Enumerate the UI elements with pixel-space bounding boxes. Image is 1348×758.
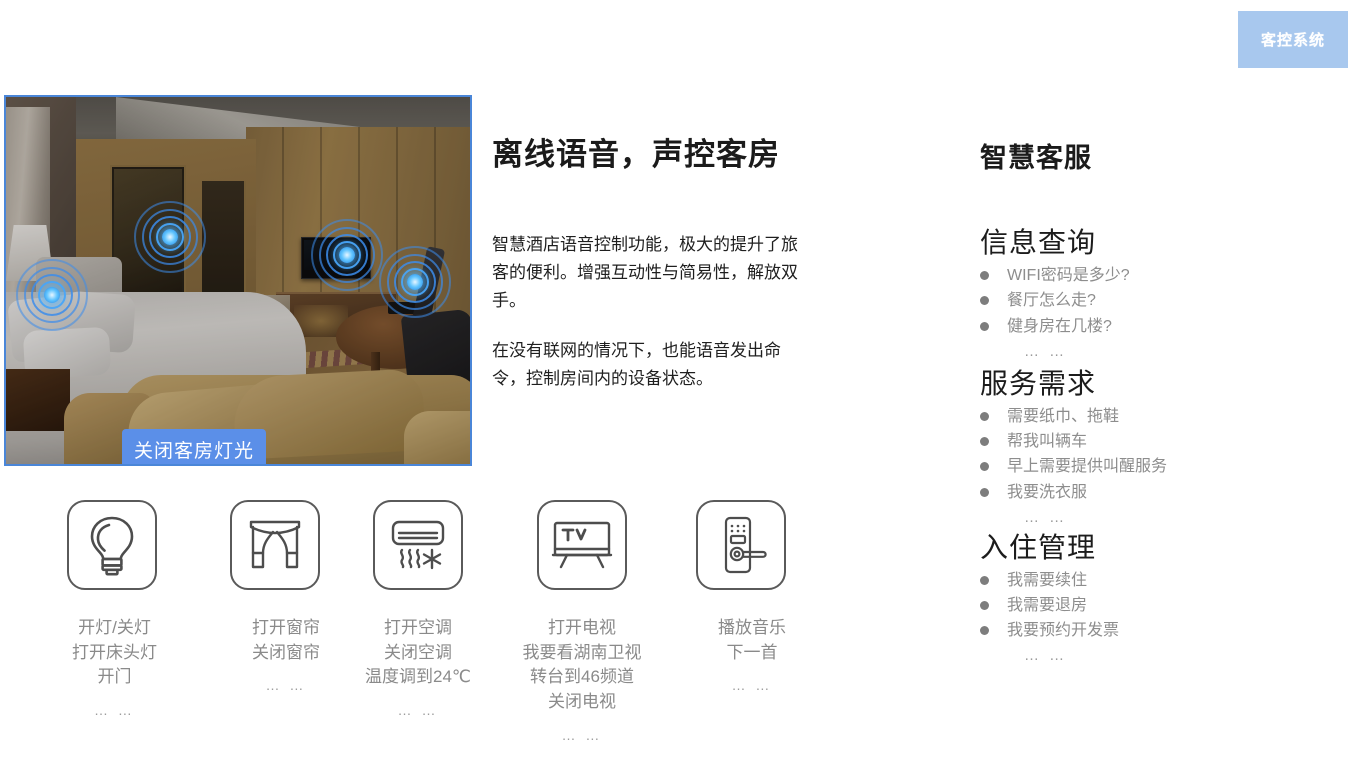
list-item-label: 我要预约开发票 (1007, 619, 1119, 642)
smart-service-title: 智慧客服 (980, 136, 1310, 175)
caption-ellipsis: … … (252, 675, 320, 695)
caption-line: 打开窗帘 (252, 616, 320, 641)
ripple-marker-desk (377, 244, 453, 320)
ripple-marker-bedside (14, 257, 90, 333)
caption-line: 打开电视 (523, 616, 642, 641)
service-item-list: WIFI密码是多少? 餐厅怎么走? 健身房在几楼? (980, 263, 1310, 339)
bullet-dot-icon (980, 601, 989, 610)
service-group-title: 信息查询 (980, 227, 1310, 259)
device-caption: 播放音乐 下一首 … … (718, 616, 786, 696)
service-group-title: 服务需求 (980, 368, 1310, 400)
caption-line: 温度调到24℃ (365, 665, 471, 690)
offline-voice-section: 离线语音，声控客房 智慧酒店语音控制功能，极大的提升了旅客的便利。增强互动性与简… (492, 136, 832, 393)
list-item: 我要预约开发票 (980, 618, 1310, 643)
caption-line: 开门 (72, 665, 157, 690)
television-icon (537, 500, 627, 590)
caption-line: 关闭电视 (523, 690, 642, 715)
caption-ellipsis: … … (523, 725, 642, 745)
bullet-dot-icon (980, 412, 989, 421)
bullet-dot-icon (980, 271, 989, 280)
list-item-label: 我要洗衣服 (1007, 481, 1087, 504)
list-ellipsis: … … (1024, 343, 1310, 360)
service-group-info-query: 信息查询 WIFI密码是多少? 餐厅怎么走? 健身房在几楼? … … (980, 227, 1310, 360)
air-conditioner-icon (373, 500, 463, 590)
photo-scene (6, 97, 470, 464)
offline-voice-paragraph-1: 智慧酒店语音控制功能，极大的提升了旅客的便利。增强互动性与简易性，解放双手。 (492, 231, 812, 315)
device-caption: 打开电视 我要看湖南卫视 转台到46频道 关闭电视 … … (523, 616, 642, 745)
device-caption: 开灯/关灯 打开床头灯 开门 … … (72, 616, 157, 720)
device-caption: 打开窗帘 关闭窗帘 … … (252, 616, 320, 696)
caption-line: 关闭窗帘 (252, 641, 320, 666)
device-cell-door-lock[interactable]: 播放音乐 下一首 … … (696, 500, 786, 696)
hotel-room-photo: 关闭客房灯光 好的，已关闭 (4, 95, 472, 466)
list-item-label: 健身房在几楼? (1007, 315, 1112, 338)
device-caption: 打开空调 关闭空调 温度调到24℃ … … (365, 616, 471, 720)
caption-line: 打开空调 (365, 616, 471, 641)
list-item: 我需要续住 (980, 568, 1310, 593)
bullet-dot-icon (980, 437, 989, 446)
list-item: 帮我叫辆车 (980, 429, 1310, 454)
caption-line: 播放音乐 (718, 616, 786, 641)
list-item: 需要纸巾、拖鞋 (980, 404, 1310, 429)
device-cell-light[interactable]: 开灯/关灯 打开床头灯 开门 … … (67, 500, 157, 720)
bullet-dot-icon (980, 626, 989, 635)
list-item: 健身房在几楼? (980, 314, 1310, 339)
caption-ellipsis: … … (365, 700, 471, 720)
caption-line: 转台到46频道 (523, 665, 642, 690)
service-group-service-request: 服务需求 需要纸巾、拖鞋 帮我叫辆车 早上需要提供叫醒服务 我要洗衣服 … … (980, 368, 1310, 526)
device-command-row: 开灯/关灯 打开床头灯 开门 … … 打开窗帘 关闭窗帘 … … (0, 500, 830, 750)
list-item-label: 帮我叫辆车 (1007, 430, 1087, 453)
light-bulb-icon (67, 500, 157, 590)
service-group-title: 入住管理 (980, 532, 1310, 564)
caption-line: 打开床头灯 (72, 641, 157, 666)
list-item-label: 需要纸巾、拖鞋 (1007, 405, 1119, 428)
header-tag-label: 客控系统 (1261, 29, 1325, 50)
list-item: 我需要退房 (980, 593, 1310, 618)
bullet-dot-icon (980, 296, 989, 305)
device-cell-curtain[interactable]: 打开窗帘 关闭窗帘 … … (230, 500, 320, 696)
offline-voice-title: 离线语音，声控客房 (492, 136, 832, 173)
device-cell-air-conditioner[interactable]: 打开空调 关闭空调 温度调到24℃ … … (373, 500, 463, 720)
voice-command-bubble: 关闭客房灯光 (122, 429, 266, 466)
list-ellipsis: … … (1024, 647, 1310, 664)
ripple-marker-doorway (132, 199, 208, 275)
list-item-label: 餐厅怎么走? (1007, 289, 1096, 312)
list-item-label: 我需要续住 (1007, 569, 1087, 592)
caption-line: 开灯/关灯 (72, 616, 157, 641)
slide-root: 客控系统 (0, 0, 1348, 758)
list-item-label: WIFI密码是多少? (1007, 264, 1130, 287)
bullet-dot-icon (980, 322, 989, 331)
service-group-checkin-management: 入住管理 我需要续住 我需要退房 我要预约开发票 … … (980, 532, 1310, 665)
smart-service-section: 智慧客服 信息查询 WIFI密码是多少? 餐厅怎么走? 健身房在几楼? … … … (980, 136, 1310, 664)
caption-line: 关闭空调 (365, 641, 471, 666)
offline-voice-paragraph-2: 在没有联网的情况下，也能语音发出命令，控制房间内的设备状态。 (492, 337, 812, 393)
list-item: 餐厅怎么走? (980, 288, 1310, 313)
curtain-icon (230, 500, 320, 590)
list-item-label: 我需要退房 (1007, 594, 1087, 617)
list-item-label: 早上需要提供叫醒服务 (1007, 455, 1167, 478)
device-cell-television[interactable]: 打开电视 我要看湖南卫视 转台到46频道 关闭电视 … … (537, 500, 627, 745)
service-item-list: 我需要续住 我需要退房 我要预约开发票 (980, 568, 1310, 644)
door-lock-icon (696, 500, 786, 590)
list-item: WIFI密码是多少? (980, 263, 1310, 288)
list-item: 我要洗衣服 (980, 480, 1310, 505)
bullet-dot-icon (980, 462, 989, 471)
caption-line: 我要看湖南卫视 (523, 641, 642, 666)
bullet-dot-icon (980, 488, 989, 497)
caption-ellipsis: … … (72, 700, 157, 720)
list-ellipsis: … … (1024, 509, 1310, 526)
ripple-marker-tv (309, 217, 385, 293)
list-item: 早上需要提供叫醒服务 (980, 454, 1310, 479)
service-item-list: 需要纸巾、拖鞋 帮我叫辆车 早上需要提供叫醒服务 我要洗衣服 (980, 404, 1310, 505)
caption-line: 下一首 (718, 641, 786, 666)
caption-ellipsis: … … (718, 675, 786, 695)
bullet-dot-icon (980, 576, 989, 585)
header-tag-badge[interactable]: 客控系统 (1238, 11, 1348, 68)
